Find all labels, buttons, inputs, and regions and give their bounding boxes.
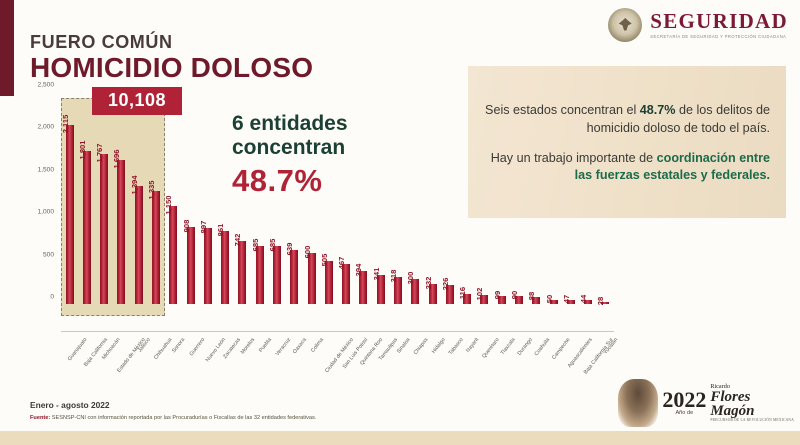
x-axis-category-cell: Guerrero: [182, 335, 199, 385]
bar-value-label: 300: [406, 271, 415, 284]
footer-color-bar: [0, 431, 800, 445]
footer-source-label: Fuente:: [30, 415, 50, 421]
bar-column[interactable]: 90: [510, 92, 527, 304]
bar-value-label: 1,394: [130, 175, 139, 194]
bar-column[interactable]: 1,150: [165, 92, 182, 304]
logo-magon: Magón: [710, 404, 794, 418]
bar[interactable]: 742: [238, 241, 246, 304]
x-axis-category-cell: Nuevo León: [199, 335, 216, 385]
brand-text-group: SEGURIDAD SECRETARÍA DE SEGURIDAD Y PROT…: [650, 11, 788, 39]
x-axis-category-cell: Tlaxcala: [493, 335, 510, 385]
bar[interactable]: 1,767: [100, 154, 108, 304]
bar-column[interactable]: 226: [441, 92, 458, 304]
bar[interactable]: 897: [204, 228, 212, 304]
bar[interactable]: 505: [325, 261, 333, 304]
callout-line-2: concentran: [232, 136, 348, 160]
bar-value-label: 341: [372, 268, 381, 281]
footer-source: Fuente: SESNSP-CNI con información repor…: [30, 415, 316, 421]
x-axis-category-cell: Baja California: [78, 335, 95, 385]
bar[interactable]: 1,801: [83, 151, 91, 304]
y-axis-tick: 1,000: [37, 209, 54, 216]
x-axis-category-cell: Michoacán: [96, 335, 113, 385]
x-axis-category-cell: Tabasco: [441, 335, 458, 385]
bar-value-label: 685: [251, 239, 260, 252]
x-axis-category-label: Yucatán: [603, 337, 620, 356]
x-axis-category-cell: Baja California Sur: [579, 335, 596, 385]
y-axis-tick: 0: [50, 294, 54, 301]
bar-column[interactable]: 1,801: [78, 92, 95, 304]
bar[interactable]: 639: [290, 250, 298, 304]
bar-value-label: 232: [424, 277, 433, 290]
x-axis-category-cell: Chihuahua: [147, 335, 164, 385]
bar-value-label: 50: [545, 295, 554, 303]
logo-tagline: PRECURSOR DE LA REVOLUCIÓN MEXICANA: [710, 419, 794, 422]
x-axis-category-cell: Durango: [510, 335, 527, 385]
bar[interactable]: 1,696: [117, 160, 125, 304]
bar[interactable]: 226: [446, 285, 454, 304]
logo-name-group: Ricardo Flores Magón PRECURSOR DE LA REV…: [710, 384, 794, 422]
y-axis-tick: 500: [43, 251, 54, 258]
bar[interactable]: 88: [532, 297, 540, 304]
bar[interactable]: 341: [377, 275, 385, 304]
bar[interactable]: 318: [394, 277, 402, 304]
bar[interactable]: 232: [429, 284, 437, 304]
total-badge: 10,108: [92, 87, 182, 115]
bar-column[interactable]: 1,696: [113, 92, 130, 304]
bar-column[interactable]: 44: [579, 92, 596, 304]
bar[interactable]: 47: [567, 300, 575, 304]
footer-source-text: SESNSP-CNI con información reportada por…: [50, 415, 316, 421]
decorative-left-strip: [0, 0, 14, 96]
bar-column[interactable]: 300: [407, 92, 424, 304]
bar-value-label: 639: [285, 242, 294, 255]
x-axis-category-cell: Zacatecas: [217, 335, 234, 385]
bar-value-label: 102: [475, 288, 484, 301]
y-axis-tick: 2,500: [37, 82, 54, 89]
x-axis-category-cell: Ciudad de México: [320, 335, 337, 385]
y-axis-tick: 1,500: [37, 166, 54, 173]
logo-year-group: 2022 Año de: [662, 390, 706, 417]
bar[interactable]: 99: [498, 296, 506, 304]
brand-subtitle: SECRETARÍA DE SEGURIDAD Y PROTECCIÓN CIU…: [650, 35, 788, 39]
bar[interactable]: 600: [308, 253, 316, 304]
bar[interactable]: 685: [256, 246, 264, 304]
x-axis-category-cell: Estado de México: [113, 335, 130, 385]
bar[interactable]: 1,394: [135, 186, 143, 304]
x-axis-category-cell: Quintana Roo: [355, 335, 372, 385]
bar-column[interactable]: 2,115: [61, 92, 78, 304]
x-axis-category-cell: San Luis Potosí: [338, 335, 355, 385]
bar[interactable]: 685: [273, 246, 281, 304]
slide-root: SEGURIDAD SECRETARÍA DE SEGURIDAD Y PROT…: [0, 0, 800, 445]
x-axis-category-cell: Sinaloa: [389, 335, 406, 385]
bar-value-label: 1,335: [147, 180, 156, 199]
bar-value-label: 600: [303, 246, 312, 259]
footer-period: Enero - agosto 2022: [30, 400, 110, 410]
flores-magon-portrait-icon: [618, 379, 658, 427]
y-axis: 05001,0001,5002,0002,500: [28, 92, 58, 332]
x-axis-category-cell: Guanajuato: [61, 335, 78, 385]
x-axis-category-cell: Aguascalientes: [562, 335, 579, 385]
x-axis-category-cell: Hidalgo: [424, 335, 441, 385]
bar-column[interactable]: 897: [199, 92, 216, 304]
x-axis-category-cell: Yucatán: [597, 335, 614, 385]
bar-value-label: 467: [337, 257, 346, 270]
bar-value-label: 99: [493, 290, 502, 298]
bar-column[interactable]: 99: [493, 92, 510, 304]
bar-value-label: 318: [389, 270, 398, 283]
x-axis-category-cell: Tamaulipas: [372, 335, 389, 385]
bar-value-label: 505: [320, 254, 329, 267]
bar-value-label: 2,115: [61, 114, 70, 133]
x-axis-line: [61, 331, 614, 332]
callout-block: 6 entidades concentran 48.7%: [232, 112, 348, 199]
bar[interactable]: 861: [221, 231, 229, 304]
bar-column[interactable]: 908: [182, 92, 199, 304]
bar-column[interactable]: 1,335: [147, 92, 164, 304]
bar-value-label: 908: [182, 220, 191, 233]
x-axis-category-cell: Veracruz: [268, 335, 285, 385]
x-axis-category-cell: Campeche: [545, 335, 562, 385]
logo-year: 2022: [662, 390, 706, 411]
x-axis-category-cell: Querétaro: [476, 335, 493, 385]
bar-value-label: 685: [268, 239, 277, 252]
callout-percent: 48.7%: [232, 163, 348, 199]
x-axis-category-cell: Coahuila: [528, 335, 545, 385]
bar[interactable]: 1,150: [169, 206, 177, 304]
bar[interactable]: 300: [411, 279, 419, 304]
bar[interactable]: 50: [550, 300, 558, 304]
bar-value-label: 90: [510, 291, 519, 299]
bar-column[interactable]: 1,767: [96, 92, 113, 304]
bar-value-label: 47: [562, 295, 571, 303]
x-axis-category-cell: Nayarit: [458, 335, 475, 385]
bar-column[interactable]: 232: [424, 92, 441, 304]
bar[interactable]: 116: [463, 294, 471, 304]
bar-column[interactable]: 341: [372, 92, 389, 304]
brand-header: SEGURIDAD SECRETARÍA DE SEGURIDAD Y PROT…: [608, 8, 788, 42]
panel-p1-percent: 48.7%: [640, 103, 676, 117]
bar-value-label: 1,150: [164, 196, 173, 215]
bar[interactable]: 2,115: [66, 125, 74, 304]
bar-column[interactable]: 47: [562, 92, 579, 304]
bar[interactable]: 90: [515, 296, 523, 304]
bar[interactable]: 44: [584, 300, 592, 304]
x-axis-category-labels: GuanajuatoBaja CaliforniaMichoacánEstado…: [61, 335, 614, 385]
bar[interactable]: 467: [342, 264, 350, 304]
x-axis-category-cell: Jalisco: [130, 335, 147, 385]
y-axis-tick: 2,000: [37, 124, 54, 131]
bar-column[interactable]: 318: [389, 92, 406, 304]
bar-value-label: 861: [216, 224, 225, 237]
bar-value-label: 226: [441, 278, 450, 291]
logo-flores: Flores: [710, 390, 794, 404]
bar[interactable]: 394: [359, 271, 367, 304]
bar[interactable]: 908: [187, 227, 195, 304]
mexico-eagle-emblem-icon: [608, 8, 642, 42]
bar-value-label: 44: [579, 295, 588, 303]
x-axis-category-cell: Morelos: [234, 335, 251, 385]
year-2022-logo: 2022 Año de Ricardo Flores Magón PRECURS…: [618, 379, 794, 427]
x-axis-category-cell: Chiapas: [407, 335, 424, 385]
page-title: HOMICIDIO DOLOSO: [30, 52, 313, 84]
bar-value-label: 394: [354, 263, 363, 276]
bar-column[interactable]: 88: [528, 92, 545, 304]
brand-title: SEGURIDAD: [650, 11, 788, 32]
bar[interactable]: 102: [480, 295, 488, 304]
bar[interactable]: 1,335: [152, 191, 160, 304]
bar-column[interactable]: 28: [597, 92, 614, 304]
x-axis-category-cell: Colima: [303, 335, 320, 385]
bar-column[interactable]: 394: [355, 92, 372, 304]
bar-value-label: 1,767: [95, 144, 104, 163]
bar-column[interactable]: 50: [545, 92, 562, 304]
bar-value-label: 88: [527, 291, 536, 299]
bar-column[interactable]: 102: [476, 92, 493, 304]
bar-column[interactable]: 116: [458, 92, 475, 304]
title-kicker: FUERO COMÚN: [30, 32, 173, 53]
x-axis-category-cell: Puebla: [251, 335, 268, 385]
bar-value-label: 116: [458, 287, 467, 299]
bar-column[interactable]: 1,394: [130, 92, 147, 304]
x-axis-category-cell: Oaxaca: [286, 335, 303, 385]
callout-line-1: 6 entidades: [232, 112, 348, 136]
bar-value-label: 897: [199, 221, 208, 234]
bar-value-label: 1,696: [112, 150, 121, 169]
bar-value-label: 28: [596, 296, 605, 304]
bar[interactable]: 28: [601, 302, 609, 304]
bar-value-label: 1,801: [78, 141, 87, 160]
x-axis-category-cell: Sonora: [165, 335, 182, 385]
bar-value-label: 742: [233, 234, 242, 247]
